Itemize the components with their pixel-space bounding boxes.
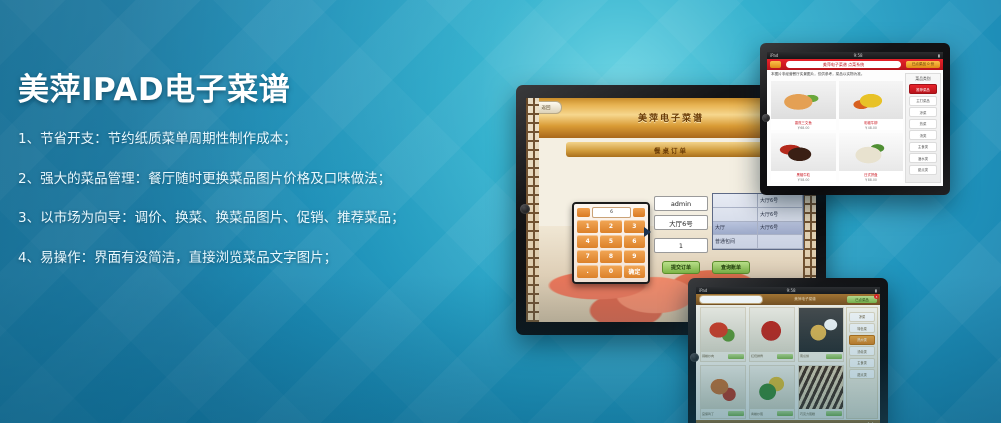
query-bill-button[interactable]: 查询账单 <box>712 261 750 274</box>
dish-name: 南瓜饼 <box>800 354 809 358</box>
dish-image <box>750 366 794 410</box>
category-item[interactable]: 特色菜 <box>849 323 875 333</box>
page-title: 美萍IPAD电子菜谱 <box>18 64 446 109</box>
app-header-bar: 美萍电子菜谱 点菜系统 已点菜品 0 份 <box>767 59 943 70</box>
category-item[interactable]: 凉菜 <box>849 312 875 322</box>
add-dish-button[interactable] <box>728 354 744 359</box>
category-sidebar-title: 菜品类别 <box>906 76 940 82</box>
status-battery: ▮ <box>938 53 940 58</box>
feature-bullet-2: 2、强大的菜品管理：餐厅随时更换菜品图片价格及口味做法； <box>18 173 446 187</box>
add-dish-button[interactable] <box>826 411 842 416</box>
dish-card[interactable]: 黑椒牛粒 ￥58.00 <box>771 133 836 182</box>
add-dish-button[interactable] <box>728 411 744 416</box>
quantity-field[interactable]: 1 <box>654 238 708 253</box>
dish-image <box>701 366 745 410</box>
dish-price: ￥48.00 <box>839 125 904 130</box>
dish-info-bar: 青椒炒蛋 <box>750 409 794 418</box>
cart-button[interactable]: 已点菜品 0 份 <box>906 61 940 68</box>
home-button[interactable] <box>520 204 530 214</box>
submit-order-button[interactable]: 提交订单 <box>662 261 700 274</box>
category-item[interactable]: 凉菜 <box>909 107 937 117</box>
dish-image <box>839 133 904 171</box>
dish-info-bar: 辣椒炒肉 <box>701 352 745 361</box>
table-cell-selected[interactable]: 大厅 <box>713 222 758 236</box>
status-bar: iPad 9:58 ▮ <box>767 52 943 59</box>
ipad-device-bottom-right: iPad 9:58 ▮ 美萍电子菜谱 已点菜品3 辣椒炒肉 <box>688 278 888 423</box>
category-sidebar: 菜品类别 推荐菜品 主打菜品 凉菜 热菜 汤类 主食类 酒水类 甜点类 <box>905 73 941 183</box>
table-cell[interactable]: 大厅6号 <box>758 194 803 208</box>
category-item[interactable]: 甜点类 <box>909 165 937 175</box>
dish-image <box>839 81 904 119</box>
category-item[interactable]: 汤羹类 <box>849 346 875 356</box>
category-item[interactable]: 主打菜品 <box>909 96 937 106</box>
cart-badge: 3 <box>874 294 879 299</box>
keypad-key[interactable]: 7 <box>577 250 598 263</box>
keypad-key[interactable]: 0 <box>600 265 621 278</box>
dish-card[interactable]: 日式拼盘 ￥88.00 <box>839 133 904 182</box>
feature-bullet-4: 4、易操作：界面有没简洁，直接浏览菜品文字图片； <box>18 252 446 266</box>
status-carrier: iPad <box>770 53 778 58</box>
dish-name: 巧克力蛋糕 <box>800 412 815 416</box>
dish-name: 青椒炒蛋 <box>751 412 763 416</box>
dish-image <box>799 366 843 410</box>
category-item[interactable]: 汤类 <box>909 130 937 140</box>
table-field[interactable]: 大厅6号 <box>654 215 708 230</box>
dish-card[interactable]: 宫保鸡丁 <box>700 365 746 420</box>
dish-price: ￥68.00 <box>771 125 836 130</box>
dish-image <box>799 308 843 352</box>
table-cell[interactable]: 普通包间 <box>713 235 758 249</box>
dish-name: 宫保鸡丁 <box>702 412 714 416</box>
ipad-top-right-screen: iPad 9:58 ▮ 美萍电子菜谱 点菜系统 已点菜品 0 份 本图片非经营餐… <box>767 52 943 186</box>
keypad-grid: 1 2 3 4 5 6 7 8 9 . 0 确定 <box>577 220 645 278</box>
dish-info-bar: 宫保鸡丁 <box>701 409 745 418</box>
numeric-keypad[interactable]: 6 1 2 3 4 5 6 7 8 9 . 0 <box>572 202 650 284</box>
cart-button[interactable]: 已点菜品3 <box>847 296 877 303</box>
category-item[interactable]: 推荐菜品 <box>909 84 937 94</box>
add-dish-button[interactable] <box>777 354 793 359</box>
dish-name: 红烧排骨 <box>751 354 763 358</box>
keypad-key[interactable]: 3 <box>624 220 645 233</box>
back-button[interactable] <box>770 61 781 68</box>
search-input[interactable] <box>699 295 763 304</box>
table-selection-list[interactable]: 大厅6号 大厅6号 大厅 大厅6号 普通包间 <box>712 193 804 250</box>
ipad-device-top-right: iPad 9:58 ▮ 美萍电子菜谱 点菜系统 已点菜品 0 份 本图片非经营餐… <box>760 43 950 195</box>
dish-card[interactable]: 辣椒炒肉 <box>700 307 746 362</box>
keypad-key[interactable]: 2 <box>600 220 621 233</box>
dish-image <box>750 308 794 352</box>
table-cell[interactable] <box>713 208 758 222</box>
category-item[interactable]: 热炒类 <box>849 335 875 345</box>
keypad-key[interactable]: 6 <box>624 235 645 248</box>
keypad-value-field[interactable]: 6 <box>592 207 631 218</box>
disclaimer-note: 本图片非经营餐厅实景图片，仅供参考，菜品以实物为准。 <box>771 72 901 77</box>
dish-grid: 辣椒炒肉 红烧排骨 南瓜饼 <box>700 307 844 419</box>
dish-info-bar: 巧克力蛋糕 <box>799 409 843 418</box>
keypad-key[interactable]: 5 <box>600 235 621 248</box>
keypad-key-confirm[interactable]: 确定 <box>624 265 645 278</box>
dish-info-bar: 南瓜饼 <box>799 352 843 361</box>
dish-card[interactable]: 青椒炒蛋 <box>749 365 795 420</box>
status-time: 9:58 <box>854 53 863 58</box>
dish-name: 辣椒炒肉 <box>702 354 714 358</box>
dish-card[interactable]: 红烧排骨 <box>749 307 795 362</box>
dish-card[interactable]: 南瓜饼 <box>798 307 844 362</box>
table-cell[interactable] <box>713 194 758 208</box>
dish-price: ￥88.00 <box>839 177 904 182</box>
keypad-delete-icon[interactable] <box>633 208 645 217</box>
status-time: 9:58 <box>787 288 796 293</box>
keypad-label <box>577 208 590 217</box>
dish-price: ￥58.00 <box>771 177 836 182</box>
category-item[interactable]: 甜点类 <box>849 369 875 379</box>
hero-copy: 美萍IPAD电子菜谱 1、节省开支：节约纸质菜单周期性制作成本； 2、强大的菜品… <box>16 64 446 291</box>
category-item[interactable]: 主食类 <box>849 358 875 368</box>
app-header-title: 美萍电子菜谱 点菜系统 <box>786 61 901 68</box>
status-carrier: iPad <box>699 288 707 293</box>
dish-grid: 香煎三文鱼 ￥68.00 彩椒牛柳 ￥48.00 黑椒牛粒 ￥58.00 日式拼… <box>771 81 903 182</box>
app-header-title: 美萍电子菜谱 <box>763 297 847 302</box>
add-dish-button[interactable] <box>777 411 793 416</box>
username-field[interactable]: admin <box>654 196 708 211</box>
category-item[interactable]: 主食类 <box>909 142 937 152</box>
table-cell-selected[interactable]: 大厅6号 <box>758 222 803 236</box>
dish-card[interactable]: 彩椒牛柳 ￥48.00 <box>839 81 904 130</box>
keypad-key[interactable]: 9 <box>624 250 645 263</box>
category-sidebar: 凉菜 特色菜 热炒类 汤羹类 主食类 甜点类 <box>846 307 878 419</box>
keypad-key[interactable]: 8 <box>600 250 621 263</box>
keypad-key[interactable]: 4 <box>577 235 598 248</box>
table-cell[interactable] <box>758 235 803 249</box>
status-bar: iPad 9:58 ▮ <box>696 287 880 294</box>
dish-card[interactable]: 巧克力蛋糕 <box>798 365 844 420</box>
feature-bullet-3: 3、以市场为向导：调价、换菜、换菜品图片、促销、推荐菜品； <box>18 212 446 226</box>
dish-image <box>701 308 745 352</box>
status-battery: ▮ <box>875 288 877 293</box>
home-button[interactable] <box>690 353 699 362</box>
dish-card[interactable]: 香煎三文鱼 ￥68.00 <box>771 81 836 130</box>
keypad-key[interactable]: 1 <box>577 220 598 233</box>
feature-bullet-1: 1、节省开支：节约纸质菜单周期性制作成本； <box>18 133 446 147</box>
pointer-arrow-icon <box>644 227 651 237</box>
keypad-display-row: 6 <box>577 207 645 217</box>
table-cell[interactable]: 大厅6号 <box>758 208 803 222</box>
dish-image <box>771 81 836 119</box>
add-dish-button[interactable] <box>826 354 842 359</box>
home-button[interactable] <box>762 114 770 122</box>
dish-info-bar: 红烧排骨 <box>750 352 794 361</box>
dish-image <box>771 133 836 171</box>
promo-banner: 美萍IPAD电子菜谱 1、节省开支：节约纸质菜单周期性制作成本； 2、强大的菜品… <box>0 0 1001 423</box>
keypad-key[interactable]: . <box>577 265 598 278</box>
app-header-bar: 美萍电子菜谱 已点菜品3 <box>696 294 880 305</box>
category-item[interactable]: 酒水类 <box>909 153 937 163</box>
category-item[interactable]: 热菜 <box>909 119 937 129</box>
ipad-bottom-right-screen: iPad 9:58 ▮ 美萍电子菜谱 已点菜品3 辣椒炒肉 <box>696 287 880 423</box>
